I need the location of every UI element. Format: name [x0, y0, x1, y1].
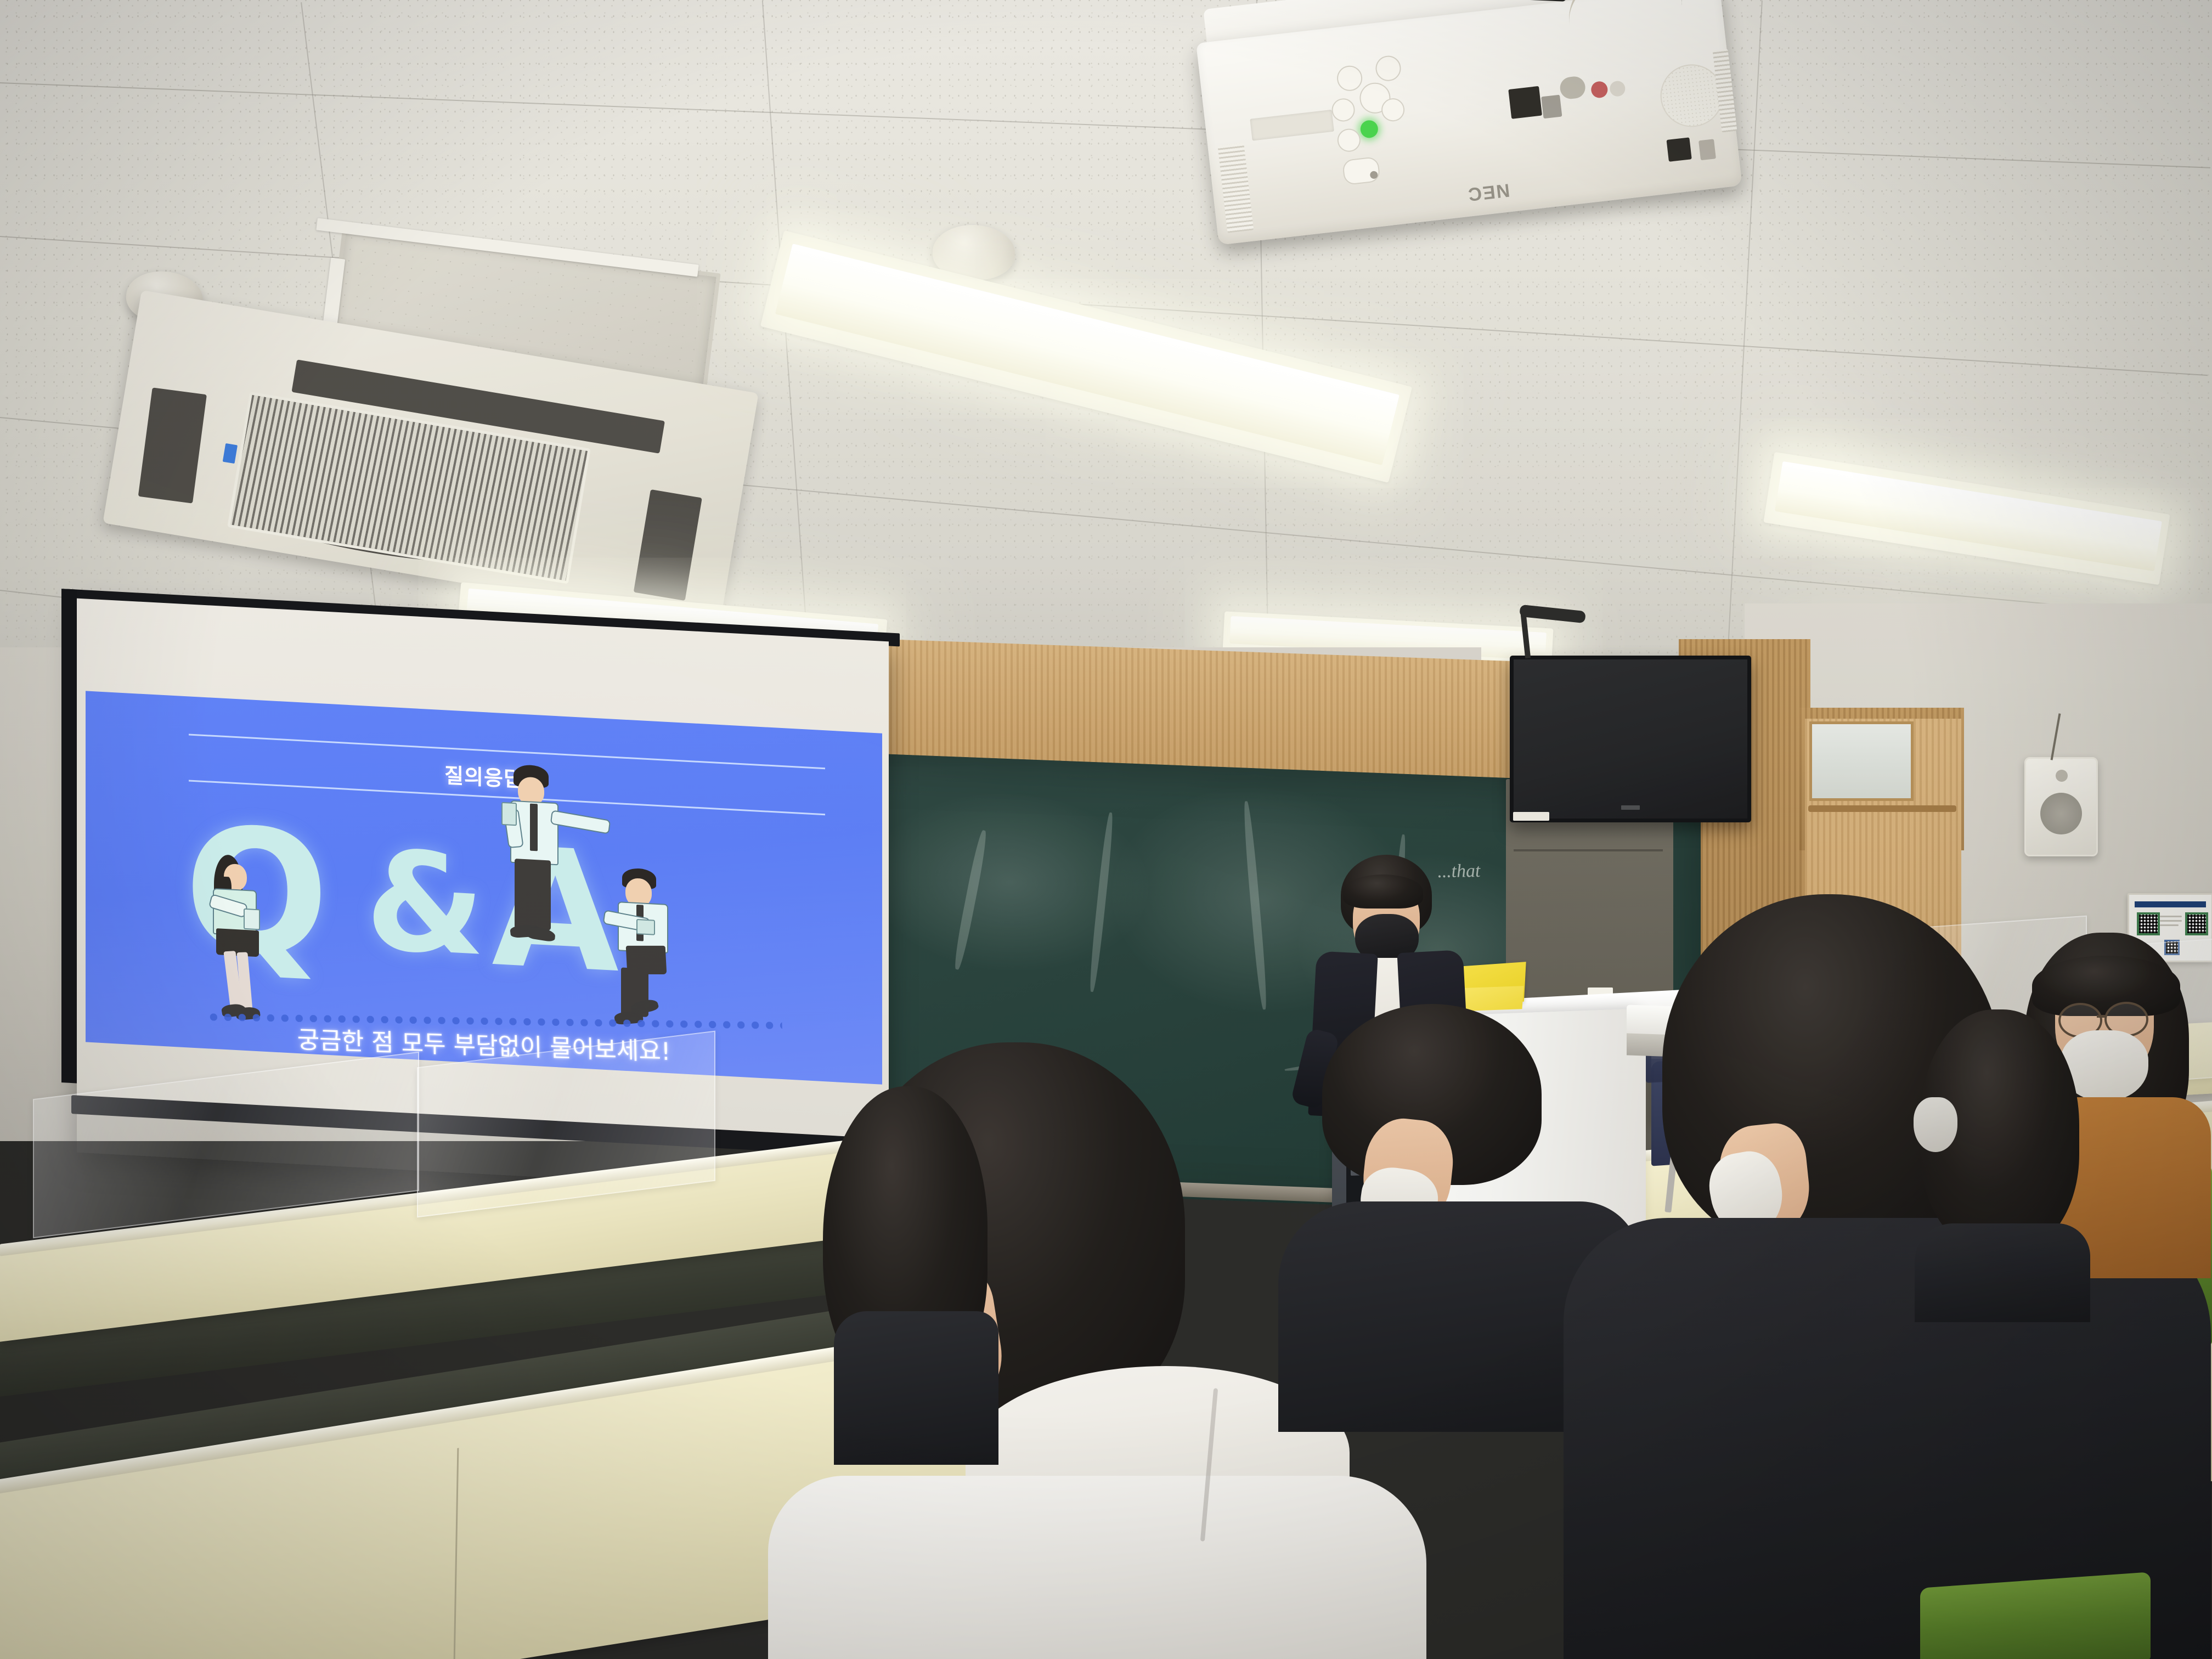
projector-port[interactable] [1508, 86, 1542, 119]
classroom-photo-scene: NEC ...th [0, 0, 2212, 1659]
student-dark-hair-center-right [1909, 1009, 2096, 1317]
projector-vent [1217, 143, 1254, 233]
student-face-mask [1914, 1097, 1957, 1152]
wall-monitor[interactable] [1510, 656, 1751, 822]
projector-power-led [1359, 120, 1379, 139]
student-fringe [2032, 956, 2180, 1016]
illustration-man-sitting-on-a [608, 867, 707, 1031]
projector-brand-label: NEC [1466, 179, 1511, 205]
projector-port[interactable] [1699, 139, 1716, 160]
student-long-hair-left [801, 1053, 1031, 1470]
projector-source-button[interactable] [1336, 127, 1362, 153]
presenter-fringe [1343, 874, 1423, 909]
projector-audio-port[interactable] [1609, 80, 1626, 97]
eyeglasses-bridge [2097, 1015, 2107, 1018]
ac-vane [634, 489, 702, 601]
ac-vane [138, 387, 207, 503]
projector-usb-port[interactable] [1541, 95, 1562, 119]
projector-port[interactable] [1667, 137, 1692, 161]
ac-indicator [223, 443, 238, 464]
projector-left-button[interactable] [1330, 97, 1356, 122]
qr-code-icon [2185, 912, 2208, 935]
door-glass-panel [1809, 721, 1914, 801]
wall-speaker [2024, 757, 2098, 856]
projector-audio-port[interactable] [1590, 81, 1609, 99]
projected-slide: 질의응답 Q & A [86, 691, 882, 1084]
projector-vga-port[interactable] [1559, 75, 1587, 100]
slide-letter-ampersand: & [365, 844, 485, 963]
monitor-mount-label [1513, 812, 1549, 821]
ceiling [0, 0, 2212, 708]
student-top [1915, 1223, 2090, 1322]
student-top [834, 1311, 998, 1465]
speaker-tweeter [2056, 770, 2068, 782]
illustration-man-leaning-on-a [498, 763, 613, 950]
monitor-brand-logo [1621, 805, 1640, 810]
projector-menu-button[interactable] [1336, 64, 1364, 92]
projector-label-plate [1250, 110, 1334, 141]
student-hoodie-body [768, 1476, 1426, 1659]
illustration-woman-on-q [193, 853, 281, 1017]
speaker-cone [2040, 793, 2082, 834]
projector-up-button[interactable] [1374, 54, 1402, 82]
cabinet-seam [1514, 849, 1663, 851]
door-rail [1808, 805, 1956, 812]
screen-left-frame [61, 589, 77, 1083]
